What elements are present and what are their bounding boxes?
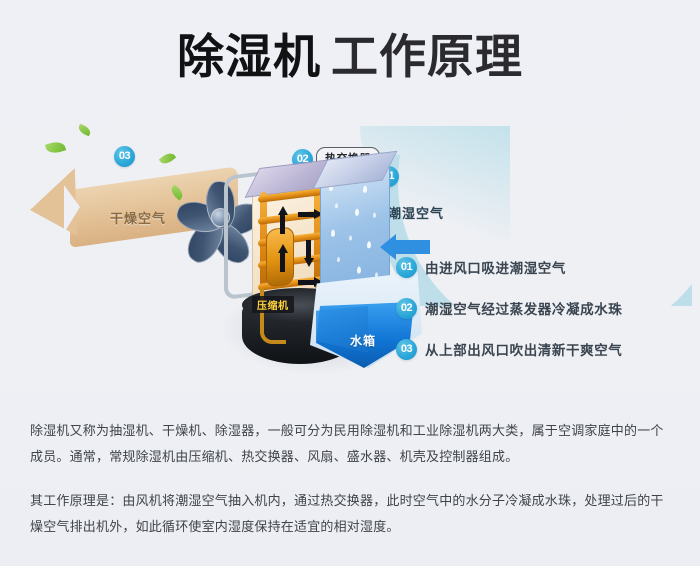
flow-arrow-stem bbox=[280, 214, 285, 234]
legend-badge-03: 03 bbox=[396, 339, 417, 360]
legend-list: 01 由进风口吸进潮湿空气 02 潮湿空气经过蒸发器冷凝成水珠 03 从上部出风… bbox=[396, 256, 686, 360]
legend-badge-01: 01 bbox=[396, 257, 417, 278]
flow-arrow-stem bbox=[298, 212, 314, 217]
flow-arrow-stem bbox=[298, 280, 314, 285]
title-part-1: 除湿机 bbox=[177, 30, 321, 83]
flow-arrow-up-icon bbox=[278, 206, 288, 215]
legend-badge-02: 02 bbox=[396, 298, 417, 319]
dry-air-label: 干燥空气 bbox=[110, 208, 166, 227]
leaf-icon bbox=[45, 140, 66, 156]
flow-arrow-up-icon bbox=[278, 244, 288, 253]
description-paragraph-2: 其工作原理是：由风机将潮湿空气抽入机内，通过热交换器，此时空气中的水分子冷凝成水… bbox=[30, 488, 674, 540]
dehumidifier-machine: 压缩机 水箱 bbox=[236, 156, 416, 376]
water-tank-label: 水箱 bbox=[350, 332, 376, 349]
title-part-2: 工作原理 bbox=[331, 30, 523, 83]
legend-text-01: 由进风口吸进潮湿空气 bbox=[425, 257, 566, 277]
legend-item: 03 从上部出风口吹出清新干爽空气 bbox=[396, 338, 686, 360]
description-paragraph-1: 除湿机又称为抽湿机、干燥机、除湿器，一般可分为民用除湿机和工业除湿机两大类，属于… bbox=[30, 418, 674, 470]
leaf-icon bbox=[77, 124, 92, 137]
flow-arrow-stem bbox=[306, 240, 311, 258]
legend-item: 01 由进风口吸进潮湿空气 bbox=[396, 256, 686, 278]
legend-item: 02 潮湿空气经过蒸发器冷凝成水珠 bbox=[396, 297, 686, 319]
flow-arrow-down-icon bbox=[304, 258, 314, 267]
infographic-page: 除湿机工作原理 03 干燥空气 01 潮湿空气 02 热交换器 bbox=[0, 0, 700, 566]
diagram-badge-03: 03 bbox=[114, 146, 135, 167]
description-block: 除湿机又称为抽湿机、干燥机、除湿器，一般可分为民用除湿机和工业除湿机两大类，属于… bbox=[30, 418, 674, 540]
compressor-label: 压缩机 bbox=[252, 296, 294, 313]
flow-arrow-stem bbox=[280, 252, 285, 272]
page-title: 除湿机工作原理 bbox=[0, 28, 700, 86]
legend-text-03: 从上部出风口吹出清新干爽空气 bbox=[425, 339, 622, 359]
air-intake-arrow-icon bbox=[396, 240, 430, 254]
legend-text-02: 潮湿空气经过蒸发器冷凝成水珠 bbox=[425, 298, 622, 318]
